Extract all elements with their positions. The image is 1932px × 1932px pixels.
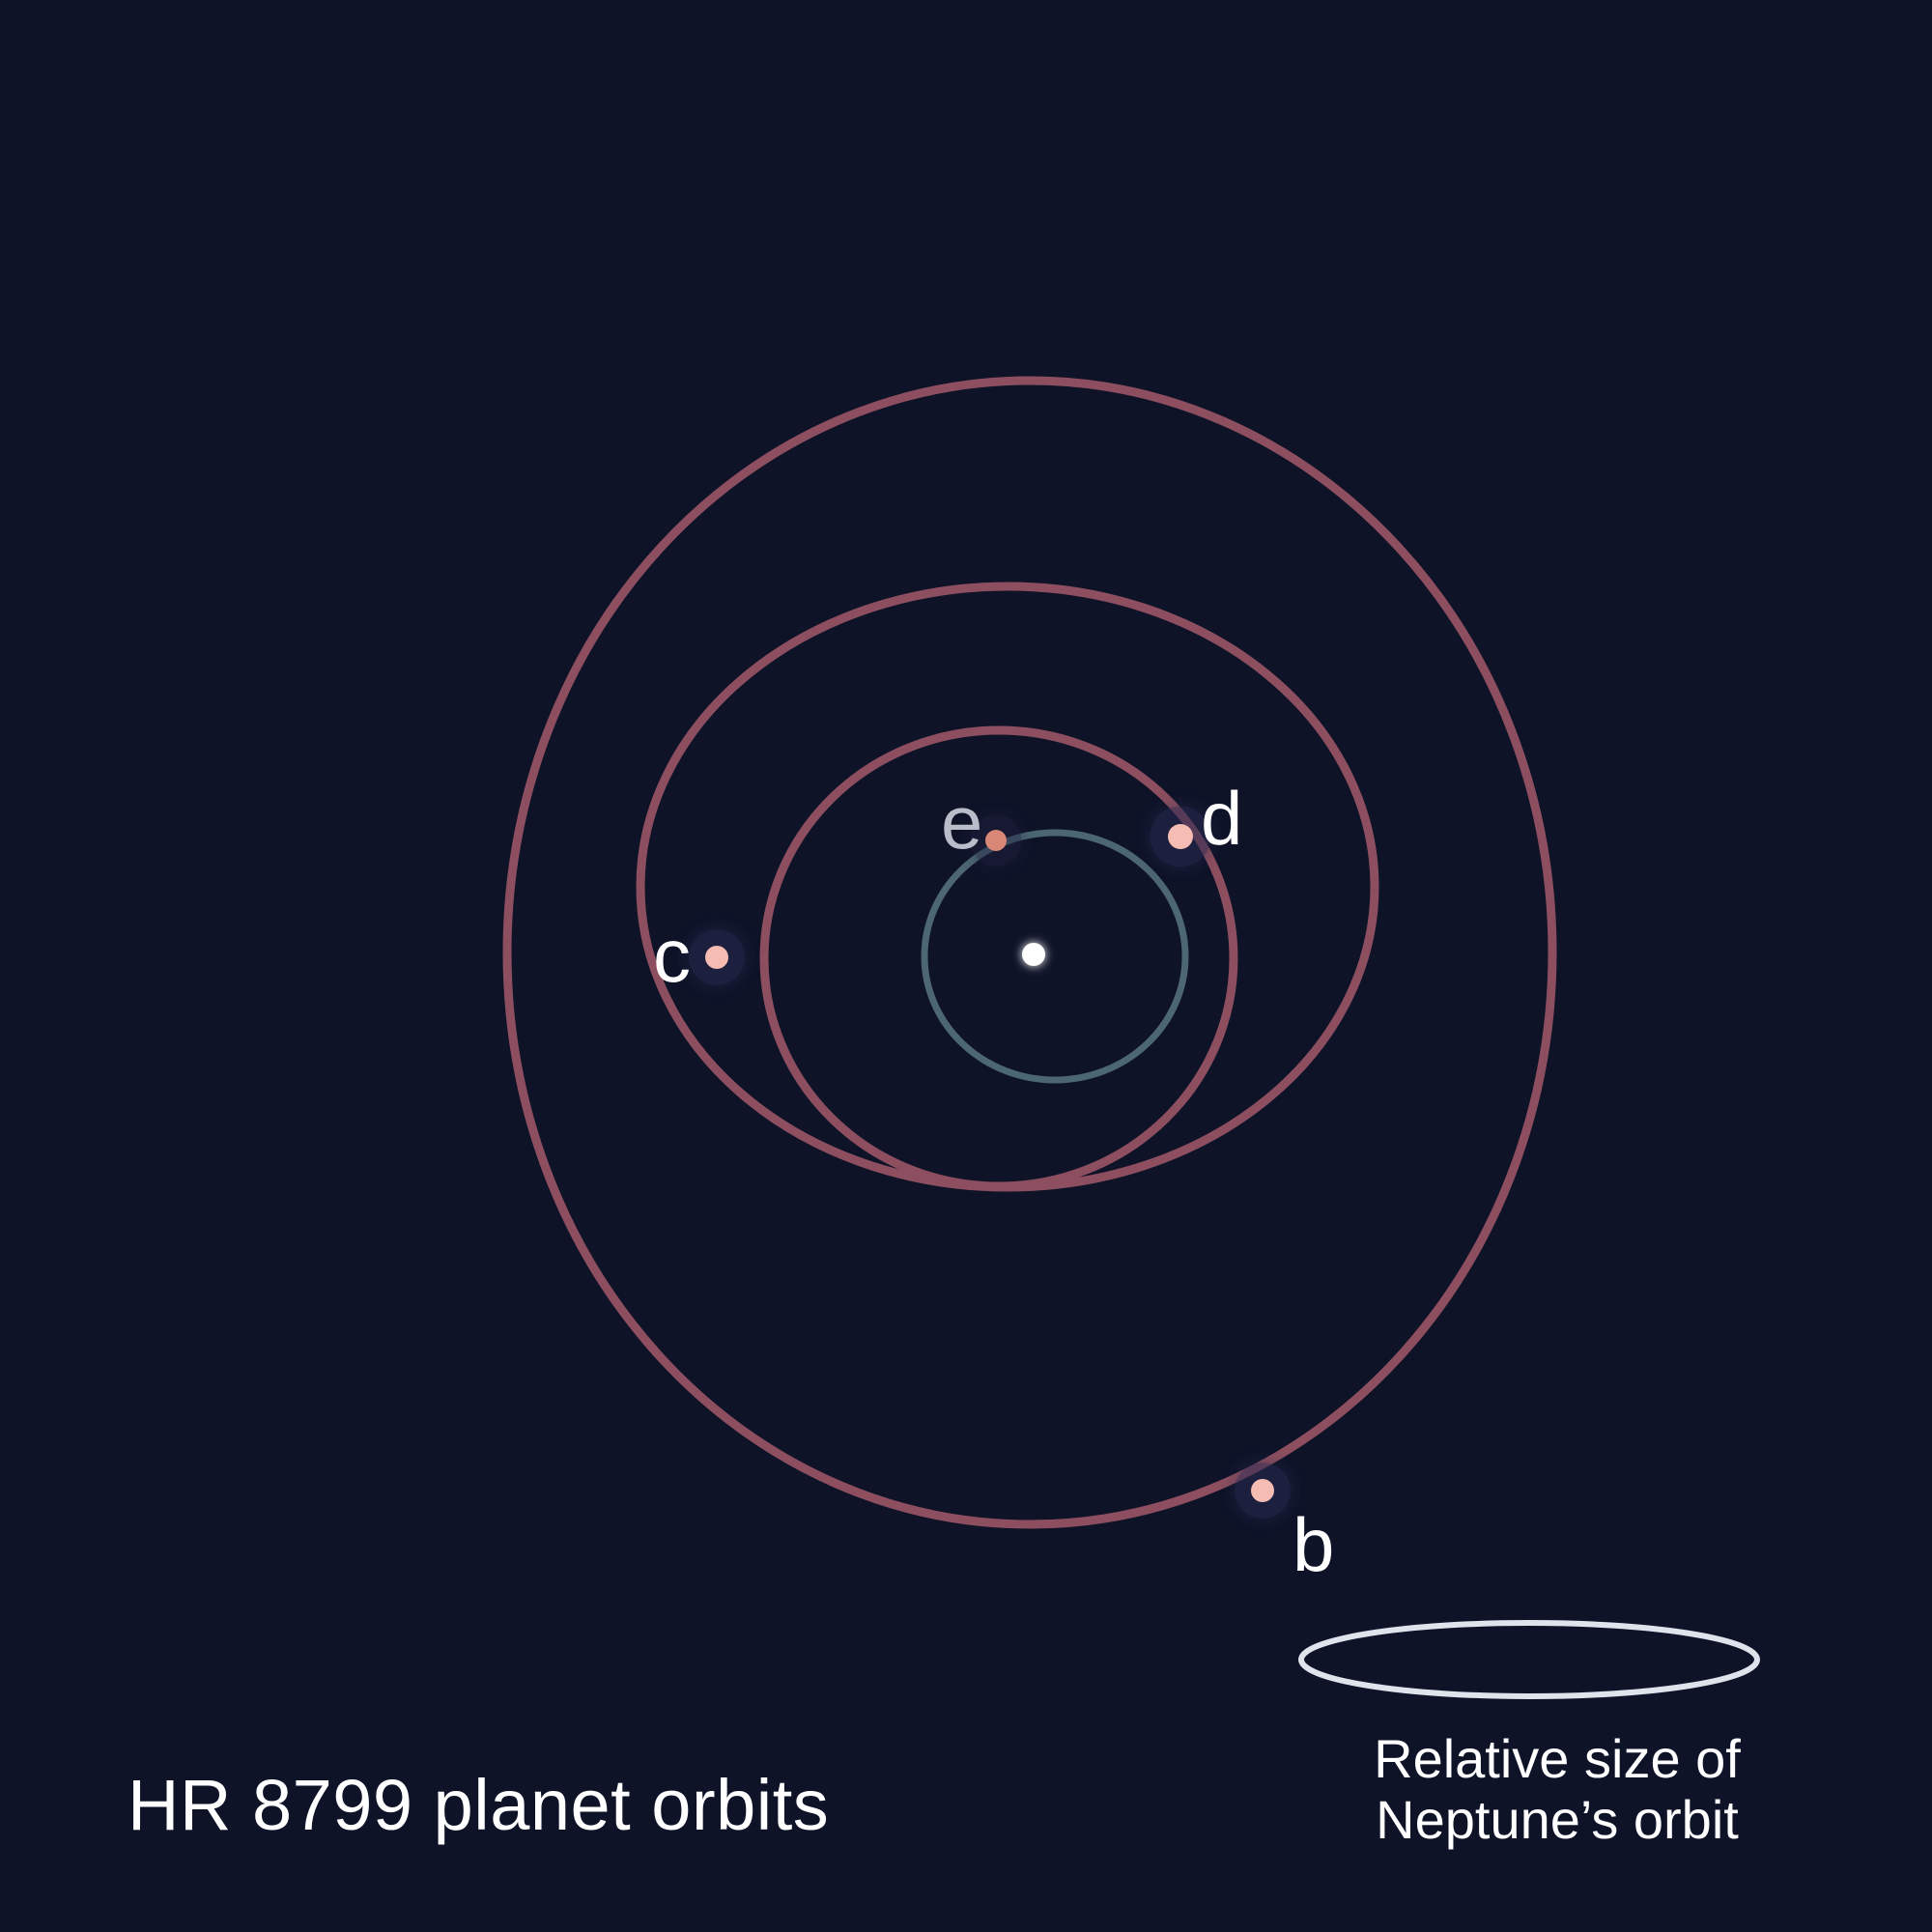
legend-caption: Relative size of Neptune’s orbit [1335,1729,1779,1850]
planet-label-b: b [1293,1507,1334,1582]
planet-dot-d[interactable] [1168,824,1193,849]
planet-dot-b[interactable] [1251,1479,1274,1502]
orbit-path-e-debris [924,833,1185,1080]
legend-caption-line-1: Relative size of [1335,1729,1779,1790]
neptune-orbit-legend-ellipse [1301,1623,1757,1696]
figure-title: HR 8799 planet orbits [128,1770,829,1841]
planet-dot-c[interactable] [705,946,728,969]
figure-canvas: b c d e HR 8799 planet orbits Relative s… [0,0,1932,1932]
planet-label-e: e [941,784,982,860]
orbit-path-c [640,586,1375,1187]
orbit-path-d [764,730,1234,1186]
central-star [1022,943,1045,966]
orbit-diagram [0,0,1932,1932]
planet-label-c: c [653,918,691,993]
planet-dot-e[interactable] [985,830,1007,851]
legend-caption-line-2: Neptune’s orbit [1335,1790,1779,1851]
planet-label-d: d [1201,781,1242,856]
